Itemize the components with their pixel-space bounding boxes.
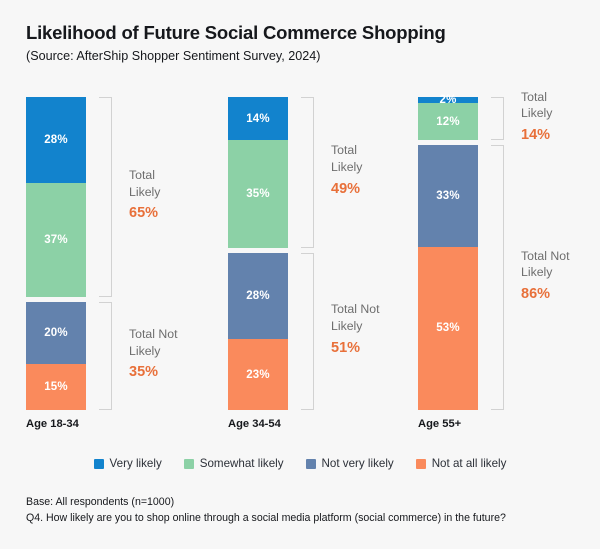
annotation-value: 65% [129,205,221,221]
annotation-label: Total Not Likely [331,301,423,334]
bar-segment-value: 28% [44,134,68,146]
bar-segment[interactable]: 28% [228,253,288,339]
annotation-label: Total Likely [129,167,221,200]
annotation-label: Total Likely [331,142,423,175]
legend-item[interactable]: Somewhat likely [184,457,284,470]
bar-segment-value: 12% [436,116,460,128]
annotation-bracket-total-not-likely [301,253,314,410]
bar-segment[interactable]: 14% [228,97,288,140]
bar-segment[interactable]: 28% [26,97,86,183]
annotation-bracket-total-likely [491,97,504,140]
chart-footer: Base: All respondents (n=1000) Q4. How l… [26,494,586,527]
annotation-value: 51% [331,340,423,356]
bar-segment-value: 35% [246,188,270,200]
legend-item[interactable]: Very likely [94,457,162,470]
footer-question: Q4. How likely are you to shop online th… [26,510,586,526]
bar-segment[interactable]: 53% [418,247,478,410]
annotation-label: Total Not Likely [521,248,600,281]
bar-segment-value: 33% [436,190,460,202]
bar-segment-value: 15% [44,381,68,393]
annotation-label: Total Likely [521,89,600,122]
annotation-bracket-total-likely [301,97,314,248]
bar-segment-value: 53% [436,322,460,334]
bar-segment-value: 23% [246,369,270,381]
legend-label: Not at all likely [432,457,507,470]
legend-swatch-icon [306,459,316,469]
legend-swatch-icon [184,459,194,469]
bar-segment[interactable]: 15% [26,364,86,410]
legend-swatch-icon [416,459,426,469]
annotation-value: 49% [331,181,423,197]
footer-base: Base: All respondents (n=1000) [26,494,586,510]
bar-stack: 14%35%28%23% [228,97,288,410]
bar-segment-value: 14% [246,113,270,125]
chart-legend: Very likelySomewhat likelyNot very likel… [0,457,600,470]
bar-segment-value: 28% [246,290,270,302]
annotation-bracket-total-likely [99,97,112,297]
annotation-total-likely: Total Likely49% [331,142,423,196]
annotation-bracket-total-not-likely [491,145,504,410]
legend-swatch-icon [94,459,104,469]
bar-segment[interactable]: 37% [26,183,86,297]
annotation-total-likely: Total Likely65% [129,167,221,221]
legend-item[interactable]: Not at all likely [416,457,507,470]
annotation-value: 35% [129,364,221,380]
bar-segment-value: 37% [44,234,68,246]
axis-label-age-34-54: Age 34-54 [228,418,281,430]
bar-segment[interactable]: 23% [228,339,288,410]
chart-plot-area: 28%37%20%15%Total Likely65%Total Not Lik… [0,0,600,440]
annotation-value: 86% [521,286,600,302]
legend-label: Not very likely [322,457,394,470]
annotation-label: Total Not Likely [129,326,221,359]
annotation-total-not-likely: Total Not Likely86% [521,248,600,302]
annotation-total-likely: Total Likely14% [521,89,600,143]
bar-stack: 2%12%33%53% [418,97,478,410]
annotation-bracket-total-not-likely [99,302,112,410]
bar-segment[interactable]: 20% [26,302,86,364]
annotation-total-not-likely: Total Not Likely51% [331,301,423,355]
legend-label: Somewhat likely [200,457,284,470]
bar-segment-value: 20% [44,327,68,339]
bar-segment[interactable]: 33% [418,145,478,247]
annotation-total-not-likely: Total Not Likely35% [129,326,221,380]
axis-label-age-18-34: Age 18-34 [26,418,79,430]
bar-segment[interactable]: 35% [228,140,288,248]
axis-label-age-55: Age 55+ [418,418,461,430]
annotation-value: 14% [521,127,600,143]
legend-item[interactable]: Not very likely [306,457,394,470]
legend-label: Very likely [110,457,162,470]
bar-segment[interactable]: 12% [418,103,478,140]
bar-stack: 28%37%20%15% [26,97,86,410]
